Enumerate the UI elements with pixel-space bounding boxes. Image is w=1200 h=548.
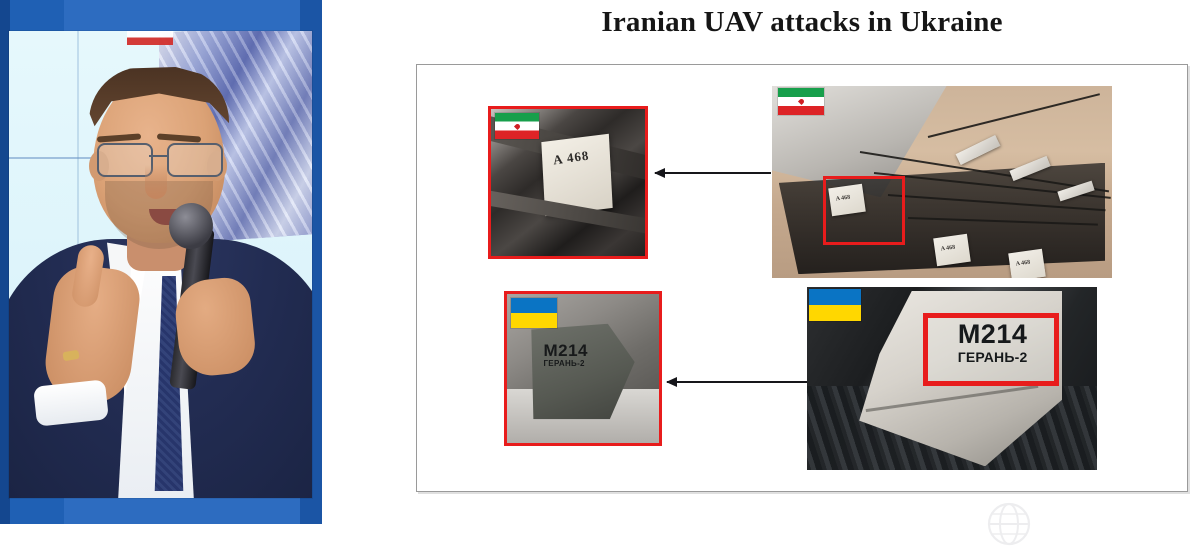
uav-marking-tag: A 468: [933, 234, 971, 266]
glasses-bridge: [149, 155, 169, 157]
slide-title: Iranian UAV attacks in Ukraine: [416, 6, 1188, 39]
uav-marking-panel: [542, 134, 613, 216]
video-feed[interactable]: [9, 31, 312, 498]
speaker-shirt-cuff: [33, 379, 109, 426]
ukraine-uav-tailfin-wide-photo[interactable]: М214 ГЕРАНЬ-2: [807, 287, 1097, 470]
tailfin-marking-name: ГЕРАНЬ-2: [935, 350, 1051, 365]
ukraine-flag-icon: [511, 298, 557, 328]
ukraine-flag-icon: [809, 289, 861, 321]
tailfin-marking-name: ГЕРАНЬ-2: [543, 360, 588, 368]
iran-uav-part-closeup-photo[interactable]: A 468: [488, 106, 648, 259]
ukraine-uav-tailfin-closeup-photo[interactable]: М214 ГЕРАНЬ-2: [504, 291, 662, 446]
arrow-bottom-right-to-left-icon: [667, 381, 807, 383]
wreckage-highlight-box: [823, 176, 905, 245]
speaker-nose: [145, 165, 167, 199]
speaker-figure: [9, 31, 312, 498]
wreckage-wing: [955, 135, 1000, 165]
iran-flag-emblem: [513, 122, 520, 129]
arrow-top-right-to-left-icon: [655, 172, 771, 174]
tailfin-marking-code: М214: [543, 342, 588, 360]
iran-uav-wreckage-field-photo[interactable]: A 468 A 468 A 468: [772, 86, 1112, 278]
iran-flag-icon: [495, 113, 539, 139]
wreckage-rod: [928, 93, 1100, 138]
slide-content-frame: A 468 A 468 A 468 A 468: [416, 64, 1188, 492]
glasses-lens-right: [167, 143, 223, 177]
iran-flag-icon: [778, 88, 824, 115]
live-video-panel: [0, 0, 322, 524]
uav-marking-tag-label: A 468: [941, 244, 956, 252]
tailfin-marking-text: М214 ГЕРАНЬ-2: [543, 342, 588, 368]
iran-flag-emblem: [797, 98, 804, 105]
globe-watermark-icon: [985, 500, 1033, 548]
uav-marking-tag-label: A 468: [1015, 260, 1030, 268]
uav-marking-tag: A 468: [1008, 249, 1046, 278]
tailfin-marking-code: М214: [935, 320, 1051, 350]
tailfin-marking-text: М214 ГЕРАНЬ-2: [935, 320, 1051, 365]
